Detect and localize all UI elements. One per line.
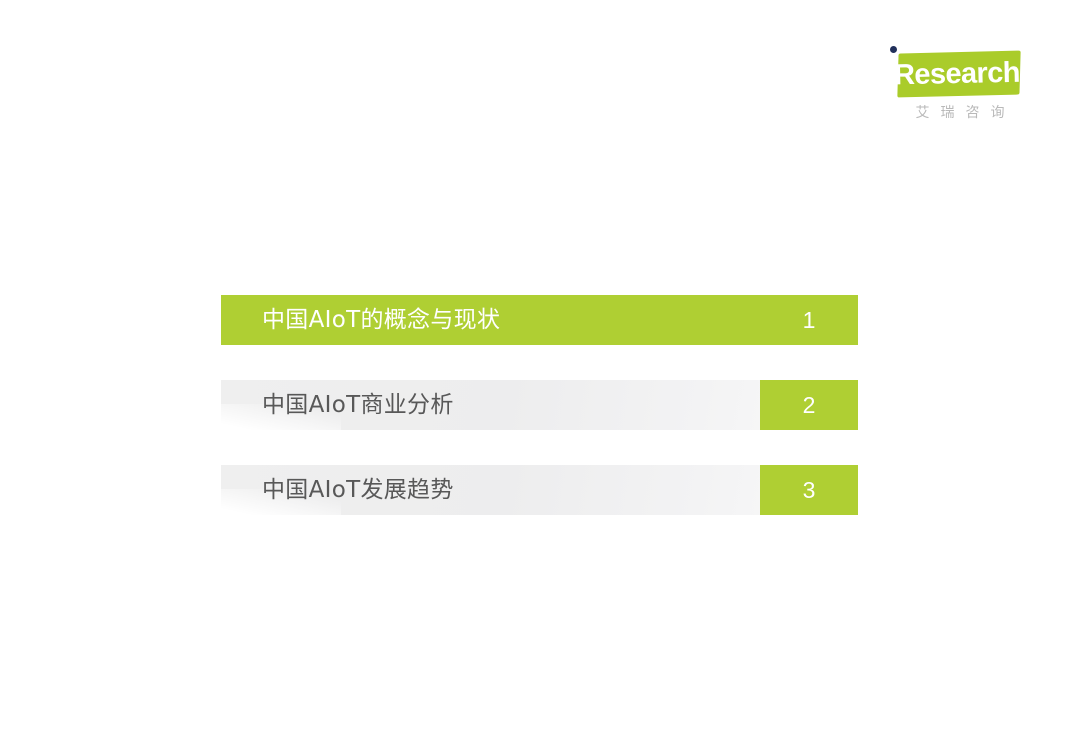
agenda-item-2-number: 2 (760, 380, 858, 430)
logo-mark: Research (880, 44, 1030, 106)
logo-i-dot (890, 46, 897, 53)
logo-letter-i-icon (888, 46, 902, 96)
agenda-item-3-label: 中国AIoT发展趋势 (262, 465, 454, 515)
agenda-item-2[interactable]: 中国AIoT商业分析 2 (221, 380, 858, 430)
agenda-item-3-number: 3 (760, 465, 858, 515)
agenda-item-3[interactable]: 中国AIoT发展趋势 3 (221, 465, 858, 515)
logo-subtitle: 艾瑞咨询 (890, 102, 1030, 122)
logo-i-stem (889, 57, 898, 93)
logo-wordmark: Research (894, 51, 1023, 98)
iresearch-logo: Research 艾瑞咨询 (880, 44, 1030, 132)
agenda-item-2-label: 中国AIoT商业分析 (262, 380, 454, 430)
slide-canvas: Research 艾瑞咨询 中国AIoT的概念与现状 1 中国AIoT商业分析 … (0, 0, 1080, 739)
agenda-list: 中国AIoT的概念与现状 1 中国AIoT商业分析 2 中国AIoT发展趋势 3 (221, 295, 858, 515)
agenda-item-1[interactable]: 中国AIoT的概念与现状 1 (221, 295, 858, 345)
agenda-item-1-number: 1 (760, 295, 858, 345)
agenda-item-1-label: 中国AIoT的概念与现状 (262, 295, 500, 345)
